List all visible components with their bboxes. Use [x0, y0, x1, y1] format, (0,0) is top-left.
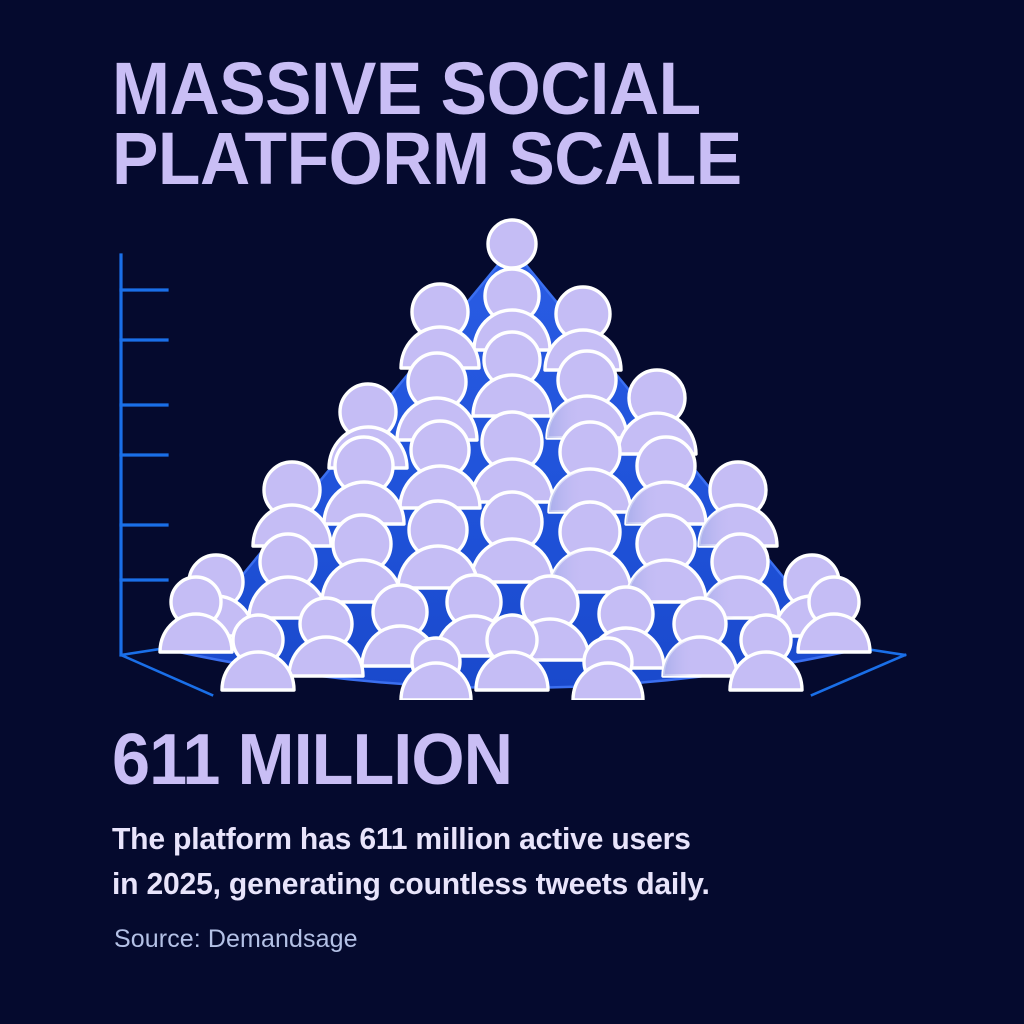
source-label: Source: Demandsage	[114, 925, 358, 954]
pictogram-chart	[0, 200, 1024, 700]
person-figure-group	[160, 220, 870, 700]
pictogram-svg	[0, 200, 1024, 700]
page-title: Massive Social Platform Scale	[112, 54, 902, 194]
stat-value: 611 Million	[112, 722, 512, 798]
infographic-canvas: Massive Social Platform Scale	[0, 0, 1024, 1024]
person-icon	[488, 220, 536, 268]
description-text: The platform has 611 million active user…	[112, 816, 888, 906]
